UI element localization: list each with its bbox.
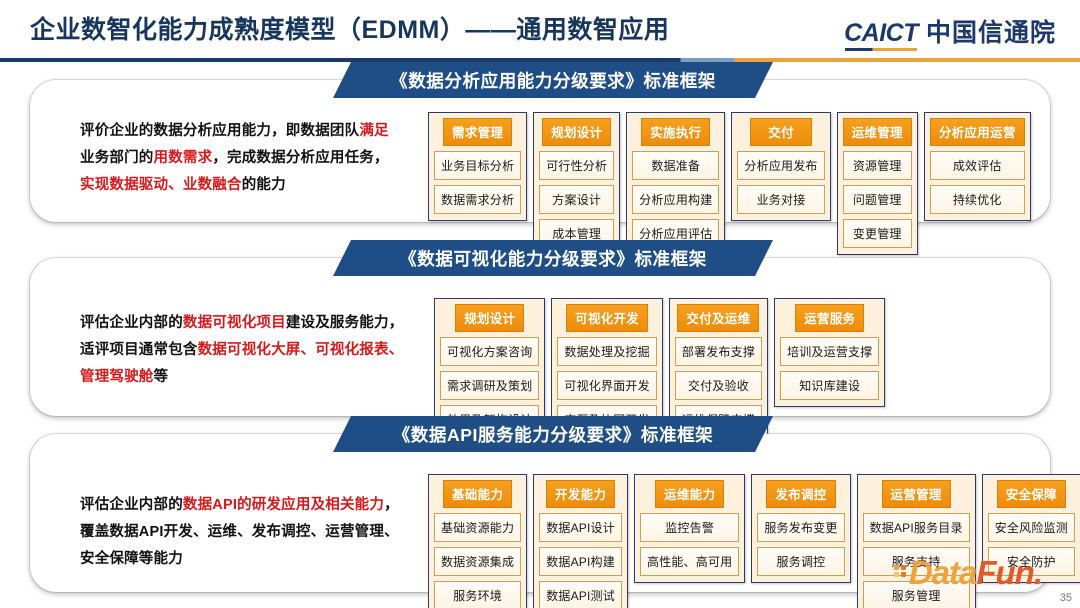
pillar-item[interactable]: 安全防护 [988,547,1075,576]
pillar-column[interactable]: 运维管理资源管理问题管理变更管理 [837,112,918,255]
pillar-item[interactable]: 数据处理及挖掘 [557,337,656,366]
pillar-item[interactable]: 服务发布变更 [757,513,844,542]
pillar-item[interactable]: 数据资源集成 [434,547,521,576]
pillar-header[interactable]: 规划设计 [455,304,524,332]
header-divider-rule [0,58,1080,62]
section-banner: 《数据分析应用能力分级要求》标准框架 [333,62,773,98]
description-highlight: 数据可视化项目 [183,315,286,331]
pillar-item[interactable]: 高性能、高可用 [640,547,739,576]
page-title: 企业数智化能力成熟度模型（EDMM）——通用数智应用 [30,10,669,46]
pillar-item[interactable]: 数据API测试 [539,581,622,608]
section-card: 评估企业内部的数据可视化项目建设及服务能力，适评项目通常包含数据可视化大屏、可视… [30,258,1050,416]
pillar-item[interactable]: 服务调控 [757,547,844,576]
pillar-header[interactable]: 发布调控 [766,480,835,508]
section-description: 评估企业内部的数据可视化项目建设及服务能力，适评项目通常包含数据可视化大屏、可视… [80,310,410,390]
description-text: ，完成数据分析应用任务， [212,150,388,166]
pillar-header[interactable]: 基础能力 [443,480,512,508]
pillar-header[interactable]: 运维管理 [843,118,912,146]
description-text: 评估企业内部的 [80,315,183,331]
pillar-item[interactable]: 服务环境 [434,581,521,608]
pillar-item[interactable]: 知识库建设 [780,371,879,400]
description-text: 等 [154,369,169,385]
pillar-header[interactable]: 可视化开发 [566,304,648,332]
pillar-column[interactable]: 安全保障安全风险监测安全防护 [982,474,1080,583]
description-text: 评估企业内部的 [80,497,183,513]
description-highlight: 满足 [359,123,388,139]
pillar-item[interactable]: 变更管理 [843,219,912,248]
pillar-column[interactable]: 开发能力数据API设计数据API构建数据API测试 [533,474,628,608]
pillar-item[interactable]: 可视化方案咨询 [440,337,539,366]
pillar-item[interactable]: 方案设计 [539,185,614,214]
pillar-item[interactable]: 成效评估 [930,151,1025,180]
pillar-item[interactable]: 分析应用发布 [737,151,824,180]
pillar-item[interactable]: 持续优化 [930,185,1025,214]
pillar-item[interactable]: 安全风险监测 [988,513,1075,542]
pillar-header[interactable]: 运营服务 [795,304,864,332]
page-number: 35 [1060,592,1072,604]
caict-logo: CAICT 中国信通院 [844,13,1056,51]
pillar-header[interactable]: 实施执行 [641,118,710,146]
pillar-column[interactable]: 发布调控服务发布变更服务调控 [751,474,850,583]
section-card: 评估企业内部的数据API的研发应用及相关能力，覆盖数据API开发、运维、发布调控… [30,434,1050,592]
pillar-header[interactable]: 交付 [750,118,812,146]
pillar-item[interactable]: 数据API服务目录 [863,513,970,542]
pillar-item[interactable]: 数据API构建 [539,547,622,576]
pillar-item[interactable]: 分析应用构建 [632,185,719,214]
pillar-header[interactable]: 分析应用运营 [930,118,1025,146]
pillar-column[interactable]: 需求管理业务目标分析数据需求分析 [428,112,527,221]
description-text: 业务部门的 [80,150,154,166]
slide-root: 企业数智化能力成熟度模型（EDMM）——通用数智应用 CAICT 中国信通院 评… [0,0,1080,608]
pillar-column[interactable]: 分析应用运营成效评估持续优化 [924,112,1031,221]
pillar-header[interactable]: 运营管理 [882,480,951,508]
description-highlight: 用数需求 [154,150,213,166]
pillar-item[interactable]: 问题管理 [843,185,912,214]
pillar-item[interactable]: 需求调研及策划 [440,371,539,400]
pillar-item[interactable]: 可行性分析 [539,151,614,180]
pillar-item[interactable]: 交付及验收 [675,371,762,400]
pillar-item[interactable]: 部署发布支撑 [675,337,762,366]
pillar-item[interactable]: 数据需求分析 [434,185,521,214]
pillar-header[interactable]: 运维能力 [655,480,724,508]
pillar-item[interactable]: 监控告警 [640,513,739,542]
section-banner: 《数据API服务能力分级要求》标准框架 [333,416,773,452]
pillar-item[interactable]: 业务对接 [737,185,824,214]
pillar-header[interactable]: 交付及运维 [677,304,759,332]
pillar-column[interactable]: 运维能力监控告警高性能、高可用 [634,474,745,583]
pillar-item[interactable]: 数据API设计 [539,513,622,542]
section-card: 评价企业的数据分析应用能力，即数据团队满足业务部门的用数需求，完成数据分析应用任… [30,80,1050,222]
pillar-column[interactable]: 运营管理数据API服务目录服务支持服务管理 [857,474,976,608]
pillar-column[interactable]: 基础能力基础资源能力数据资源集成服务环境 [428,474,527,608]
section-banner: 《数据可视化能力分级要求》标准框架 [333,240,773,276]
pillar-header[interactable]: 安全保障 [997,480,1066,508]
pillar-item[interactable]: 服务管理 [863,581,970,608]
caict-chinese-name: 中国信通院 [926,13,1056,49]
pillar-column[interactable]: 运营服务培训及运营支撑知识库建设 [774,298,885,407]
pillar-header[interactable]: 开发能力 [546,480,615,508]
pillar-item[interactable]: 资源管理 [843,151,912,180]
pillar-header[interactable]: 需求管理 [443,118,512,146]
section-description: 评估企业内部的数据API的研发应用及相关能力，覆盖数据API开发、运维、发布调控… [80,492,410,572]
pillar-item[interactable]: 培训及运营支撑 [780,337,879,366]
pillar-group-row: 基础能力基础资源能力数据资源集成服务环境开发能力数据API设计数据API构建数据… [428,474,1080,608]
pillar-item[interactable]: 服务支持 [863,547,970,576]
pillar-item[interactable]: 数据准备 [632,151,719,180]
description-highlight: 数据API的研发应用及相关能力 [183,497,384,513]
pillar-header[interactable]: 规划设计 [542,118,611,146]
description-highlight: 实现数据驱动、业数融合 [80,177,242,193]
section-description: 评价企业的数据分析应用能力，即数据团队满足业务部门的用数需求，完成数据分析应用任… [80,118,400,198]
description-text: 评价企业的数据分析应用能力，即数据团队 [80,123,359,139]
pillar-item[interactable]: 基础资源能力 [434,513,521,542]
pillar-column[interactable]: 交付分析应用发布业务对接 [731,112,830,221]
pillar-item[interactable]: 业务目标分析 [434,151,521,180]
pillar-item[interactable]: 可视化界面开发 [557,371,656,400]
caict-wordmark: CAICT [844,19,918,51]
slide-header: 企业数智化能力成熟度模型（EDMM）——通用数智应用 CAICT 中国信通院 [0,0,1080,62]
description-text: 的能力 [242,177,286,193]
pillar-column[interactable]: 实施执行数据准备分析应用构建分析应用评估 [626,112,725,255]
